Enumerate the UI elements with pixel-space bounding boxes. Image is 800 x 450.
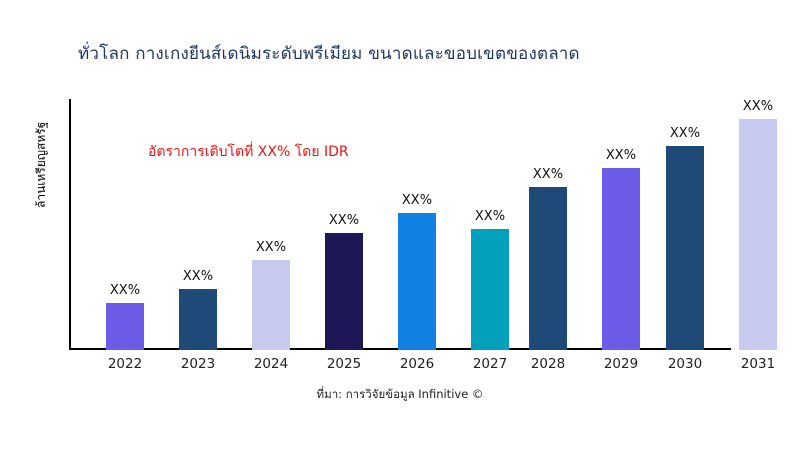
bar-value-label: XX% (728, 99, 788, 114)
x-axis-tick-label: 2030 (650, 356, 720, 372)
bar[interactable] (106, 303, 144, 350)
bar-value-label: XX% (387, 193, 447, 208)
bar-value-label: XX% (168, 269, 228, 284)
bar-value-label: XX% (460, 209, 520, 224)
x-axis-tick-label: 2024 (236, 356, 306, 372)
bar-group: XX% (106, 303, 144, 350)
bar-value-label: XX% (95, 283, 155, 298)
bar-group: XX% (325, 233, 363, 350)
bar[interactable] (739, 119, 777, 350)
bar-value-label: XX% (518, 167, 578, 182)
x-axis-tick-label: 2026 (382, 356, 452, 372)
bar-group: XX% (179, 289, 217, 350)
bar[interactable] (602, 168, 640, 350)
bar-value-label: XX% (655, 126, 715, 141)
bar[interactable] (529, 187, 567, 350)
bar-value-label: XX% (591, 148, 651, 163)
bar-group: XX% (529, 187, 567, 350)
bar-group: XX% (666, 146, 704, 350)
bar[interactable] (252, 260, 290, 350)
chart-container: ทั่วโลก กางเกงยีนส์เดนิมระดับพรีเมียม ขน… (0, 0, 800, 450)
bars-layer: XX%2022XX%2023XX%2024XX%2025XX%2026XX%20… (0, 0, 800, 450)
bar[interactable] (325, 233, 363, 350)
x-axis-tick-label: 2025 (309, 356, 379, 372)
bar-group: XX% (602, 168, 640, 350)
x-axis-tick-label: 2028 (513, 356, 583, 372)
bar-value-label: XX% (241, 240, 301, 255)
source-caption: ที่มา: การวิจัยข้อมูล Infinitive © (0, 386, 800, 404)
bar[interactable] (398, 213, 436, 350)
bar[interactable] (179, 289, 217, 350)
bar-group: XX% (471, 229, 509, 350)
bar-value-label: XX% (314, 213, 374, 228)
bar-group: XX% (739, 119, 777, 350)
bar-group: XX% (398, 213, 436, 350)
x-axis-tick-label: 2031 (723, 356, 793, 372)
x-axis-tick-label: 2022 (90, 356, 160, 372)
x-axis-tick-label: 2023 (163, 356, 233, 372)
bar[interactable] (471, 229, 509, 350)
x-axis-tick-label: 2029 (586, 356, 656, 372)
bar[interactable] (666, 146, 704, 350)
bar-group: XX% (252, 260, 290, 350)
